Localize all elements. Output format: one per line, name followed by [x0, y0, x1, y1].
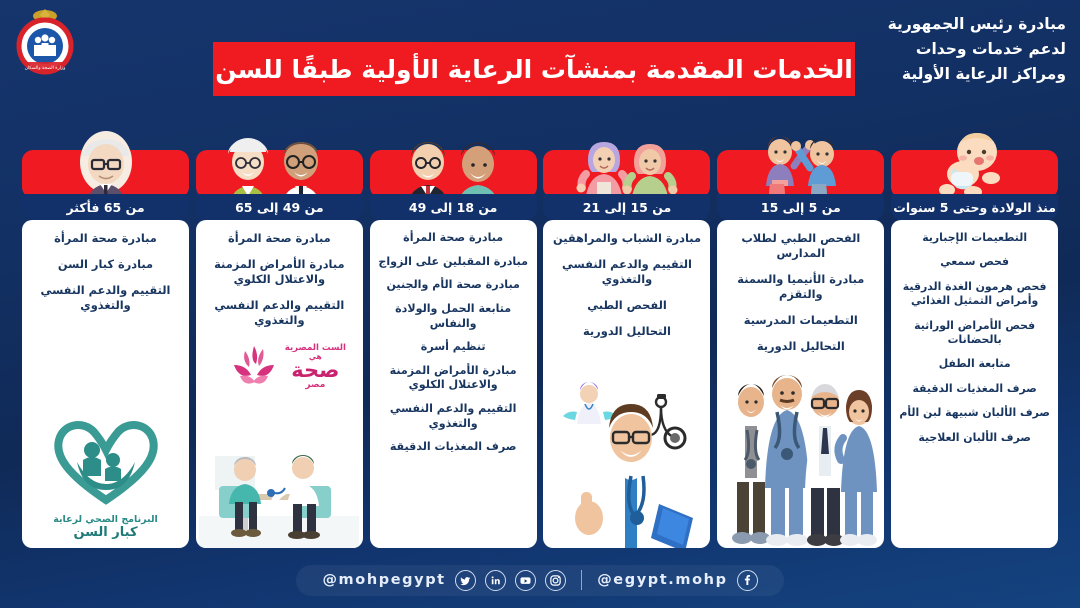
- service-item: صرف الألبان العلاجية: [898, 431, 1051, 445]
- age-label: من 15 إلى 21: [583, 200, 672, 215]
- service-item: مبادرة المقبلين على الزواج: [377, 255, 530, 270]
- service-item: متابعة الحمل والولادة والنفاس: [377, 302, 530, 331]
- svg-text:وزارة الصحة والسكان: وزارة الصحة والسكان: [25, 65, 66, 71]
- age-label-bar: من 49 إلى 65: [196, 194, 363, 220]
- age-label: من 49 إلى 65: [235, 200, 324, 215]
- facebook-handle[interactable]: @egypt.mohp: [597, 572, 727, 588]
- services-card: مبادرة الشباب والمراهقين التقييم والدعم …: [543, 220, 710, 548]
- linkedin-icon[interactable]: [485, 570, 506, 591]
- initiative-line-2: لدعم خدمات وحدات: [888, 37, 1066, 62]
- column-header-pill: [22, 150, 189, 198]
- column-header-pill: [891, 150, 1058, 198]
- initiative-text: مبادرة رئيس الجمهورية لدعم خدمات وحدات و…: [888, 12, 1066, 87]
- services-list: مبادرة صحة المرأة مبادرة الأمراض المزمنة…: [203, 231, 356, 328]
- logo-text: الست المصرية هي صحة مصر: [285, 344, 346, 390]
- column-birth-to-5: منذ الولادة وحتى 5 سنوات التطعيمات الإجب…: [891, 128, 1058, 552]
- logo-word-3: صحة: [285, 360, 346, 381]
- page-title: الخدمات المقدمة بمنشآت الرعاية الأولية ط…: [215, 55, 853, 84]
- column-header-pill: [196, 150, 363, 198]
- service-item: مبادرة الشباب والمراهقين: [550, 231, 703, 246]
- lotus-icon: [227, 343, 281, 391]
- service-item: مبادرة صحة الأم والجنين: [377, 278, 530, 293]
- column-age-65-plus: من 65 فأكثر مبادرة صحة المرأة مبادرة كبا…: [22, 128, 189, 552]
- column-age-15-21: من 15 إلى 21 مبادرة الشباب والمراهقين ال…: [543, 128, 710, 552]
- doctor-examining-elderly-patient: [196, 430, 363, 548]
- service-item: التقييم والدعم النفسي والتغذوي: [203, 298, 356, 328]
- page-title-banner: الخدمات المقدمة بمنشآت الرعاية الأولية ط…: [213, 42, 855, 96]
- logo-caption-top: البرنامج الصحي لرعاية: [22, 514, 189, 525]
- age-label-bar: من 15 إلى 21: [543, 194, 710, 220]
- age-label: من 18 إلى 49: [409, 200, 498, 215]
- column-age-49-65: من 49 إلى 65 مبادرة صحة المرأة مبادرة ال…: [196, 128, 363, 552]
- column-age-18-49: من 18 إلى 49 مبادرة صحة المرأة مبادرة ال…: [370, 128, 537, 552]
- footer-divider: [581, 570, 583, 590]
- column-age-5-15: من 5 إلى 15 الفحص الطبي لطلاب المدارس مب…: [717, 128, 884, 552]
- column-header-pill: [370, 150, 537, 198]
- facebook-icon[interactable]: [737, 570, 758, 591]
- service-item: مبادرة كبار السن: [29, 257, 182, 272]
- service-item: مبادرة الأنيميا والسمنة والتقزم: [724, 272, 877, 302]
- service-item: صرف المغذيات الدقيقة: [377, 440, 530, 455]
- services-card: مبادرة صحة المرأة مبادرة الأمراض المزمنة…: [196, 220, 363, 548]
- service-item: مبادرة صحة المرأة: [29, 231, 182, 246]
- instagram-icon[interactable]: [545, 570, 566, 591]
- column-header-pill: [717, 150, 884, 198]
- medical-team-group: [717, 372, 884, 548]
- service-item: صرف المغذيات الدقيقة: [898, 382, 1051, 396]
- service-item: فحص الأمراض الوراثية بالحضانات: [898, 319, 1051, 348]
- services-card: مبادرة صحة المرأة مبادرة كبار السن التقي…: [22, 220, 189, 548]
- ministry-of-health-egypt-logo: وزارة الصحة والسكان: [12, 6, 78, 76]
- age-label-bar: من 5 إلى 15: [717, 194, 884, 220]
- logo-caption-bottom: كبار السن: [22, 525, 189, 540]
- service-item: مبادرة الأمراض المزمنة والاعتلال الكلوي: [377, 364, 530, 393]
- elderly-care-program-logo: البرنامج الصحي لرعاية كبار السن: [22, 412, 189, 540]
- service-item: صرف الألبان شبيهة لبن الأم: [898, 406, 1051, 420]
- service-item: مبادرة الأمراض المزمنة والاعتلال الكلوي: [203, 257, 356, 287]
- column-header-pill: [543, 150, 710, 198]
- page-header: وزارة الصحة والسكان الخدمات المقدمة بمنش…: [0, 0, 1080, 118]
- age-label-bar: من 18 إلى 49: [370, 194, 537, 220]
- services-list: مبادرة الشباب والمراهقين التقييم والدعم …: [550, 231, 703, 339]
- service-item: التحاليل الدورية: [724, 339, 877, 354]
- age-group-columns: من 65 فأكثر مبادرة صحة المرأة مبادرة كبا…: [0, 128, 1080, 552]
- service-item: الفحص الطبي: [550, 298, 703, 313]
- service-item: التطعيمات المدرسية: [724, 313, 877, 328]
- twitter-icon[interactable]: [455, 570, 476, 591]
- services-card: مبادرة صحة المرأة مبادرة المقبلين على ال…: [370, 220, 537, 548]
- service-item: التقييم والدعم النفسي والتغذوي: [550, 257, 703, 287]
- service-item: فحص هرمون الغدة الدرقية وأمراض التمثيل ا…: [898, 280, 1051, 309]
- services-list: مبادرة صحة المرأة مبادرة المقبلين على ال…: [377, 231, 530, 455]
- age-label: من 65 فأكثر: [66, 200, 144, 215]
- service-item: التطعيمات الإجبارية: [898, 231, 1051, 245]
- service-item: مبادرة صحة المرأة: [203, 231, 356, 246]
- services-list: الفحص الطبي لطلاب المدارس مبادرة الأنيمي…: [724, 231, 877, 354]
- initiative-line-3: ومراكز الرعاية الأولية: [888, 62, 1066, 87]
- service-item: تنظيم أسرة: [377, 340, 530, 355]
- egyptian-woman-health-logo: الست المصرية هي صحة مصر: [209, 343, 363, 391]
- services-card: الفحص الطبي لطلاب المدارس مبادرة الأنيمي…: [717, 220, 884, 548]
- services-card: التطعيمات الإجبارية فحص سمعي فحص هرمون ا…: [891, 220, 1058, 548]
- age-label: منذ الولادة وحتى 5 سنوات: [893, 200, 1056, 215]
- social-footer: @egypt.mohp @mohpegypt: [0, 552, 1080, 608]
- age-label: من 5 إلى 15: [761, 200, 841, 215]
- age-label-bar: من 65 فأكثر: [22, 194, 189, 220]
- age-label-bar: منذ الولادة وحتى 5 سنوات: [891, 194, 1058, 220]
- service-item: التقييم والدعم النفسي والتغذوي: [29, 283, 182, 313]
- youtube-icon[interactable]: [515, 570, 536, 591]
- service-item: التقييم والدعم النفسي والتغذوي: [377, 402, 530, 431]
- service-item: الفحص الطبي لطلاب المدارس: [724, 231, 877, 261]
- service-item: فحص سمعي: [898, 255, 1051, 269]
- doctor-thumbs-up-with-stethoscope: [543, 368, 710, 548]
- services-list: مبادرة صحة المرأة مبادرة كبار السن التقي…: [29, 231, 182, 313]
- service-item: التحاليل الدورية: [550, 324, 703, 339]
- logo-word-4: مصر: [285, 381, 346, 390]
- social-bar: @egypt.mohp @mohpegypt: [296, 565, 783, 596]
- services-list: التطعيمات الإجبارية فحص سمعي فحص هرمون ا…: [898, 231, 1051, 445]
- initiative-line-1: مبادرة رئيس الجمهورية: [888, 12, 1066, 37]
- service-item: مبادرة صحة المرأة: [377, 231, 530, 246]
- service-item: متابعة الطفل: [898, 357, 1051, 371]
- secondary-handle[interactable]: @mohpegypt: [322, 572, 445, 588]
